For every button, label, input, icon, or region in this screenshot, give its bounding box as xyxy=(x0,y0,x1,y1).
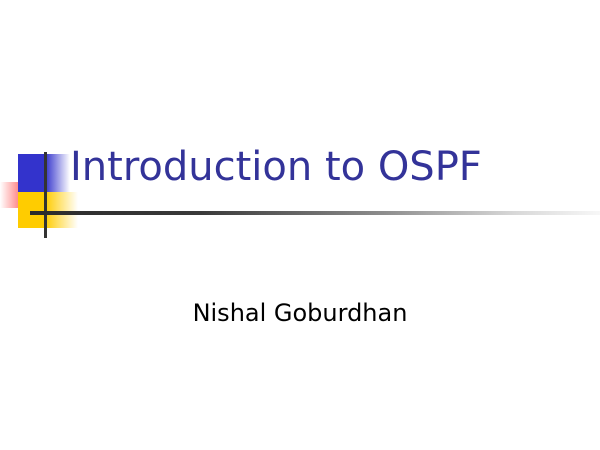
slide-subtitle-presenter-name: Nishal Goburdhan xyxy=(0,297,600,329)
presentation-slide: Introduction to OSPF Nishal Goburdhan xyxy=(0,0,600,450)
yellow-square-icon xyxy=(18,192,78,228)
vertical-crosshair-bar-icon xyxy=(44,152,47,238)
title-underline-rule xyxy=(30,211,600,215)
slide-title: Introduction to OSPF xyxy=(70,142,580,192)
